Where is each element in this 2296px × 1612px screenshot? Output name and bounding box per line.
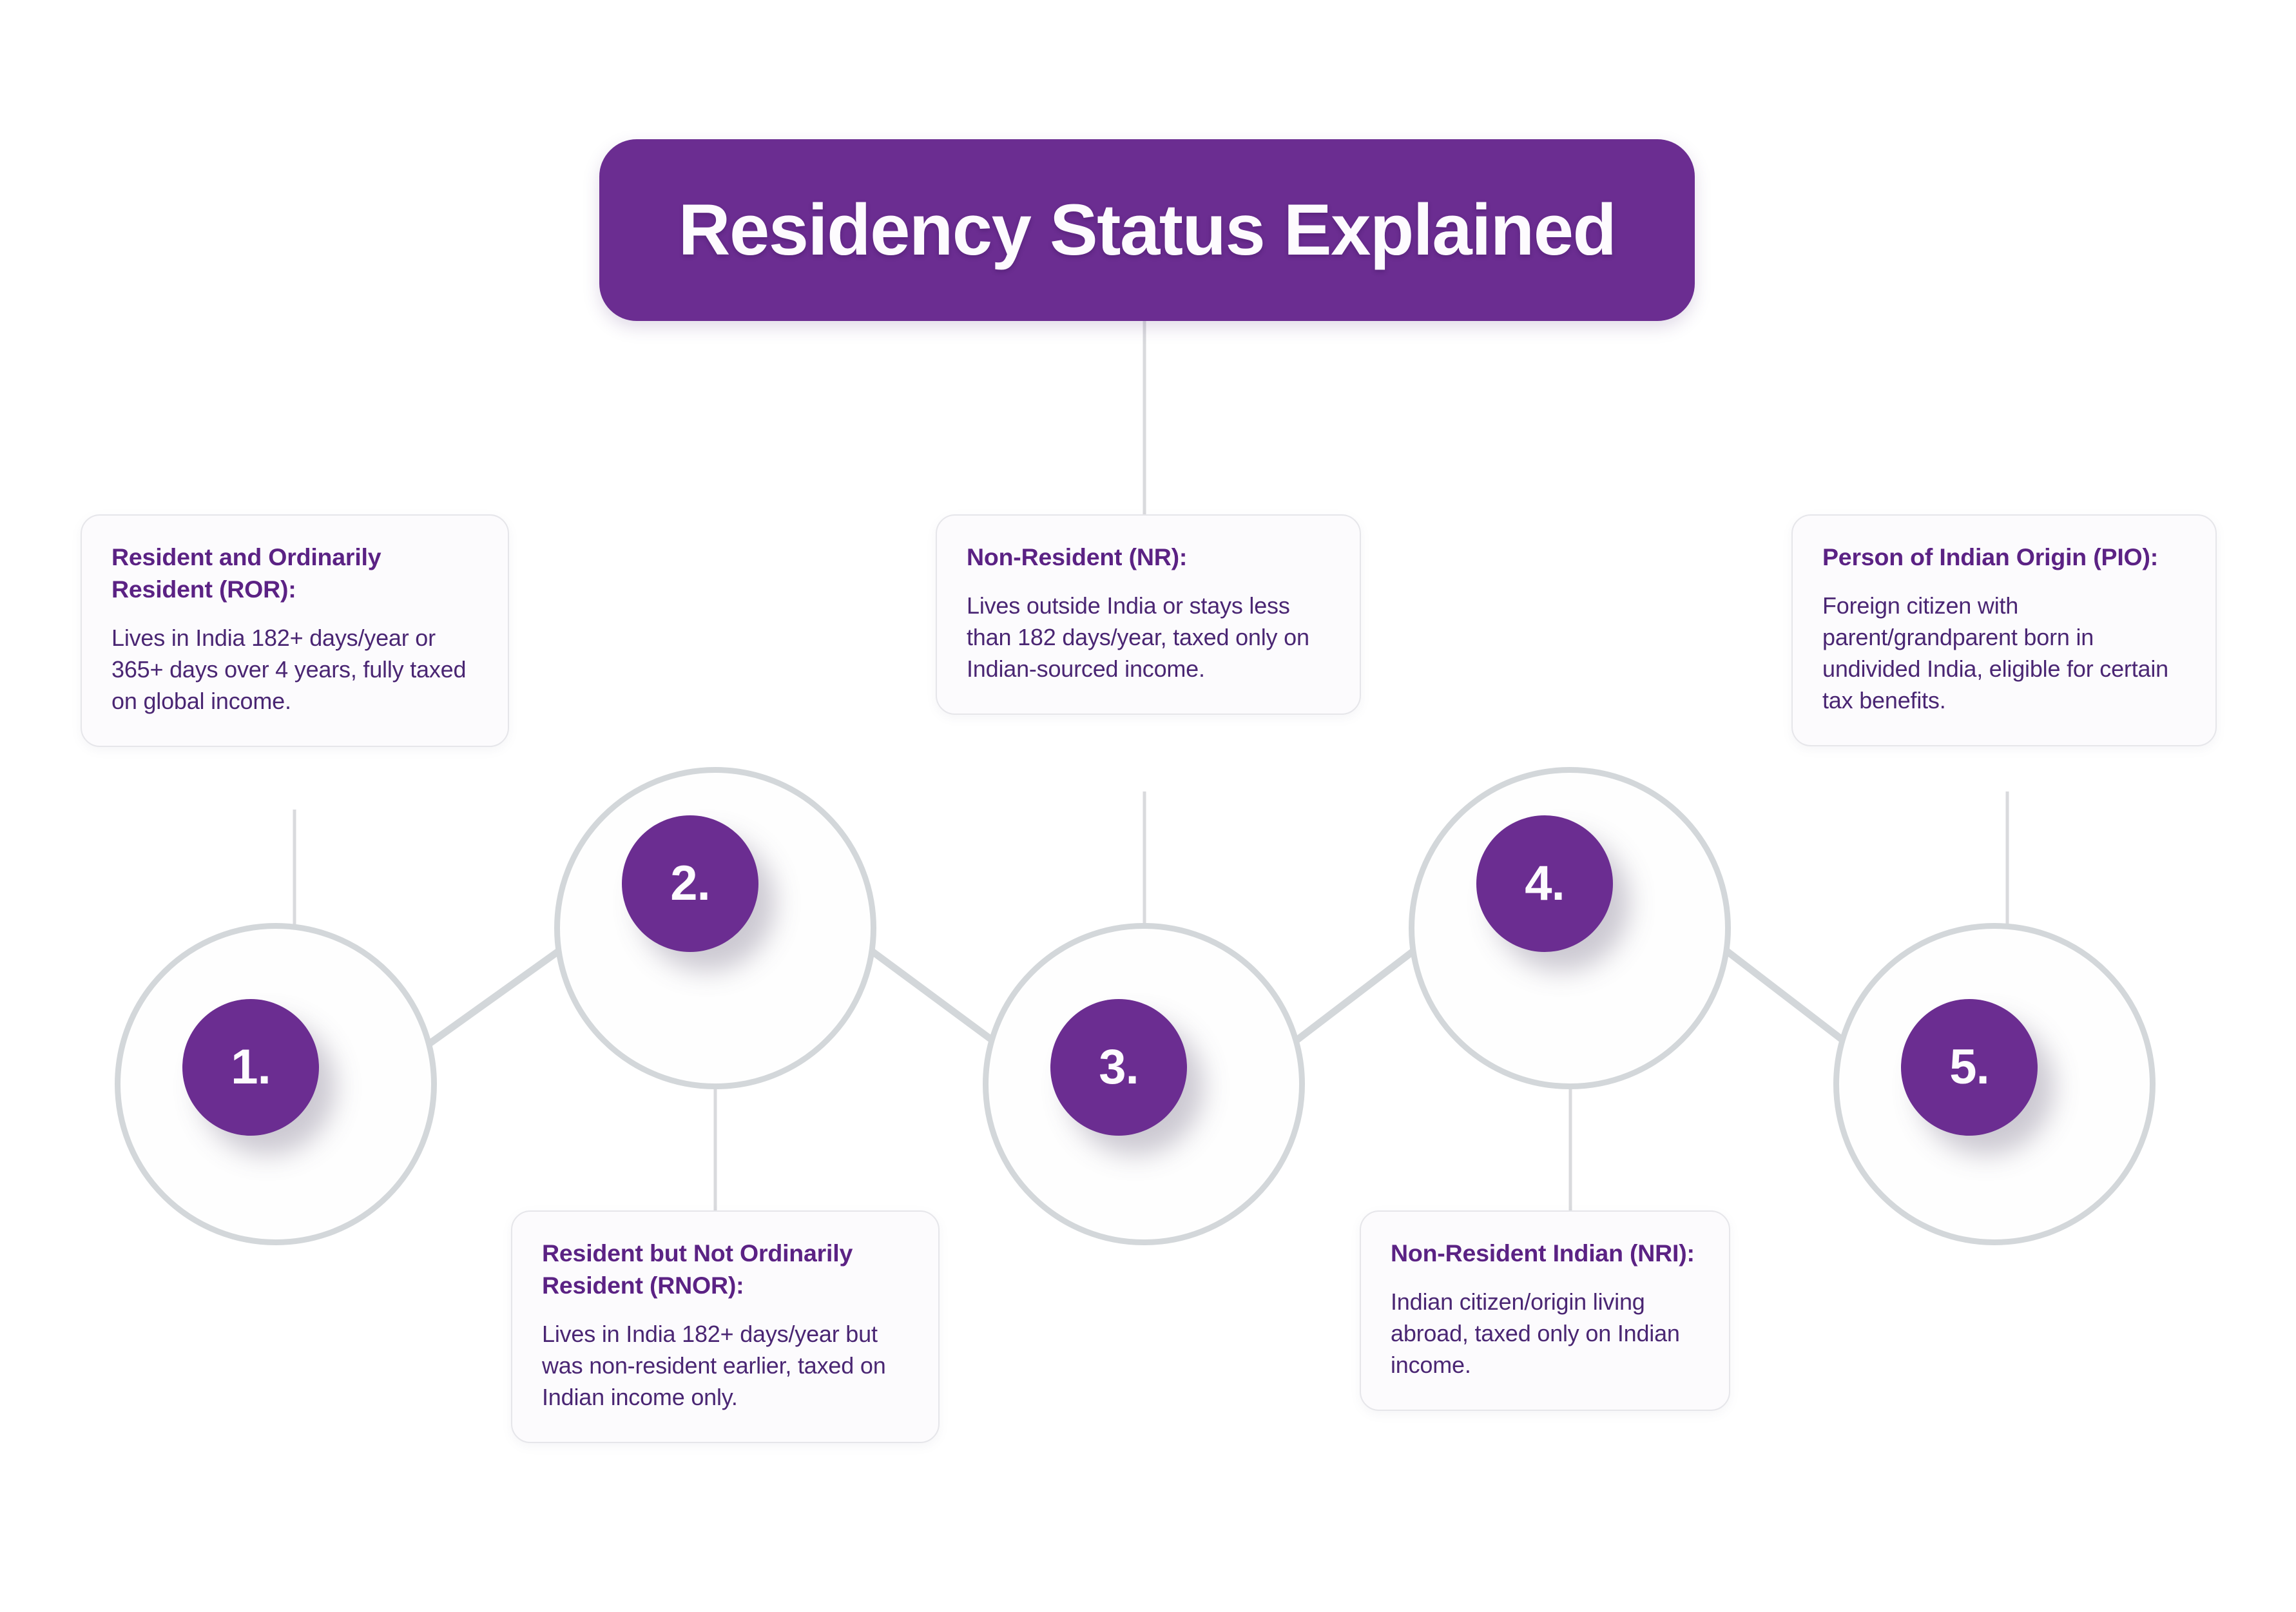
step-number-1: 1.: [231, 1043, 270, 1092]
step-card-5: Person of Indian Origin (PIO): Foreign c…: [1791, 514, 2217, 746]
step-node-4[interactable]: 4.: [1476, 815, 1613, 952]
step-card-4: Non-Resident Indian (NRI): Indian citize…: [1360, 1210, 1730, 1411]
step-card-body-1: Lives in India 182+ days/year or 365+ da…: [111, 623, 478, 717]
step-node-1[interactable]: 1.: [182, 999, 319, 1136]
step-node-3[interactable]: 3.: [1050, 999, 1187, 1136]
step-card-title-3: Non-Resident (NR):: [967, 541, 1330, 574]
step-card-2: Resident but Not Ordinarily Resident (RN…: [511, 1210, 940, 1443]
infographic-canvas: Residency Status Explained 1. 2. 3. 4. 5…: [0, 0, 2296, 1612]
connector-node2-node3: [869, 949, 992, 1040]
step-card-title-5: Person of Indian Origin (PIO):: [1822, 541, 2186, 574]
step-number-4: 4.: [1525, 859, 1564, 908]
step-node-2[interactable]: 2.: [622, 815, 758, 952]
step-node-5[interactable]: 5.: [1901, 999, 2038, 1136]
connector-node4-node5: [1724, 949, 1843, 1040]
step-card-body-5: Foreign citizen with parent/grandparent …: [1822, 590, 2186, 717]
step-card-body-3: Lives outside India or stays less than 1…: [967, 590, 1330, 685]
connector-node1-node2: [430, 949, 562, 1043]
step-card-3: Non-Resident (NR): Lives outside India o…: [936, 514, 1361, 715]
step-card-title-4: Non-Resident Indian (NRI):: [1391, 1238, 1699, 1270]
step-number-3: 3.: [1099, 1043, 1138, 1092]
step-number-5: 5.: [1949, 1043, 1989, 1092]
step-card-title-1: Resident and Ordinarily Resident (ROR):: [111, 541, 478, 606]
connector-node3-node4: [1297, 949, 1416, 1040]
page-title-banner: Residency Status Explained: [599, 139, 1695, 321]
step-card-title-2: Resident but Not Ordinarily Resident (RN…: [542, 1238, 909, 1302]
step-card-body-2: Lives in India 182+ days/year but was no…: [542, 1319, 909, 1413]
page-title: Residency Status Explained: [679, 194, 1616, 266]
step-card-body-4: Indian citizen/origin living abroad, tax…: [1391, 1287, 1699, 1381]
step-card-1: Resident and Ordinarily Resident (ROR): …: [81, 514, 509, 747]
step-number-2: 2.: [670, 859, 709, 908]
